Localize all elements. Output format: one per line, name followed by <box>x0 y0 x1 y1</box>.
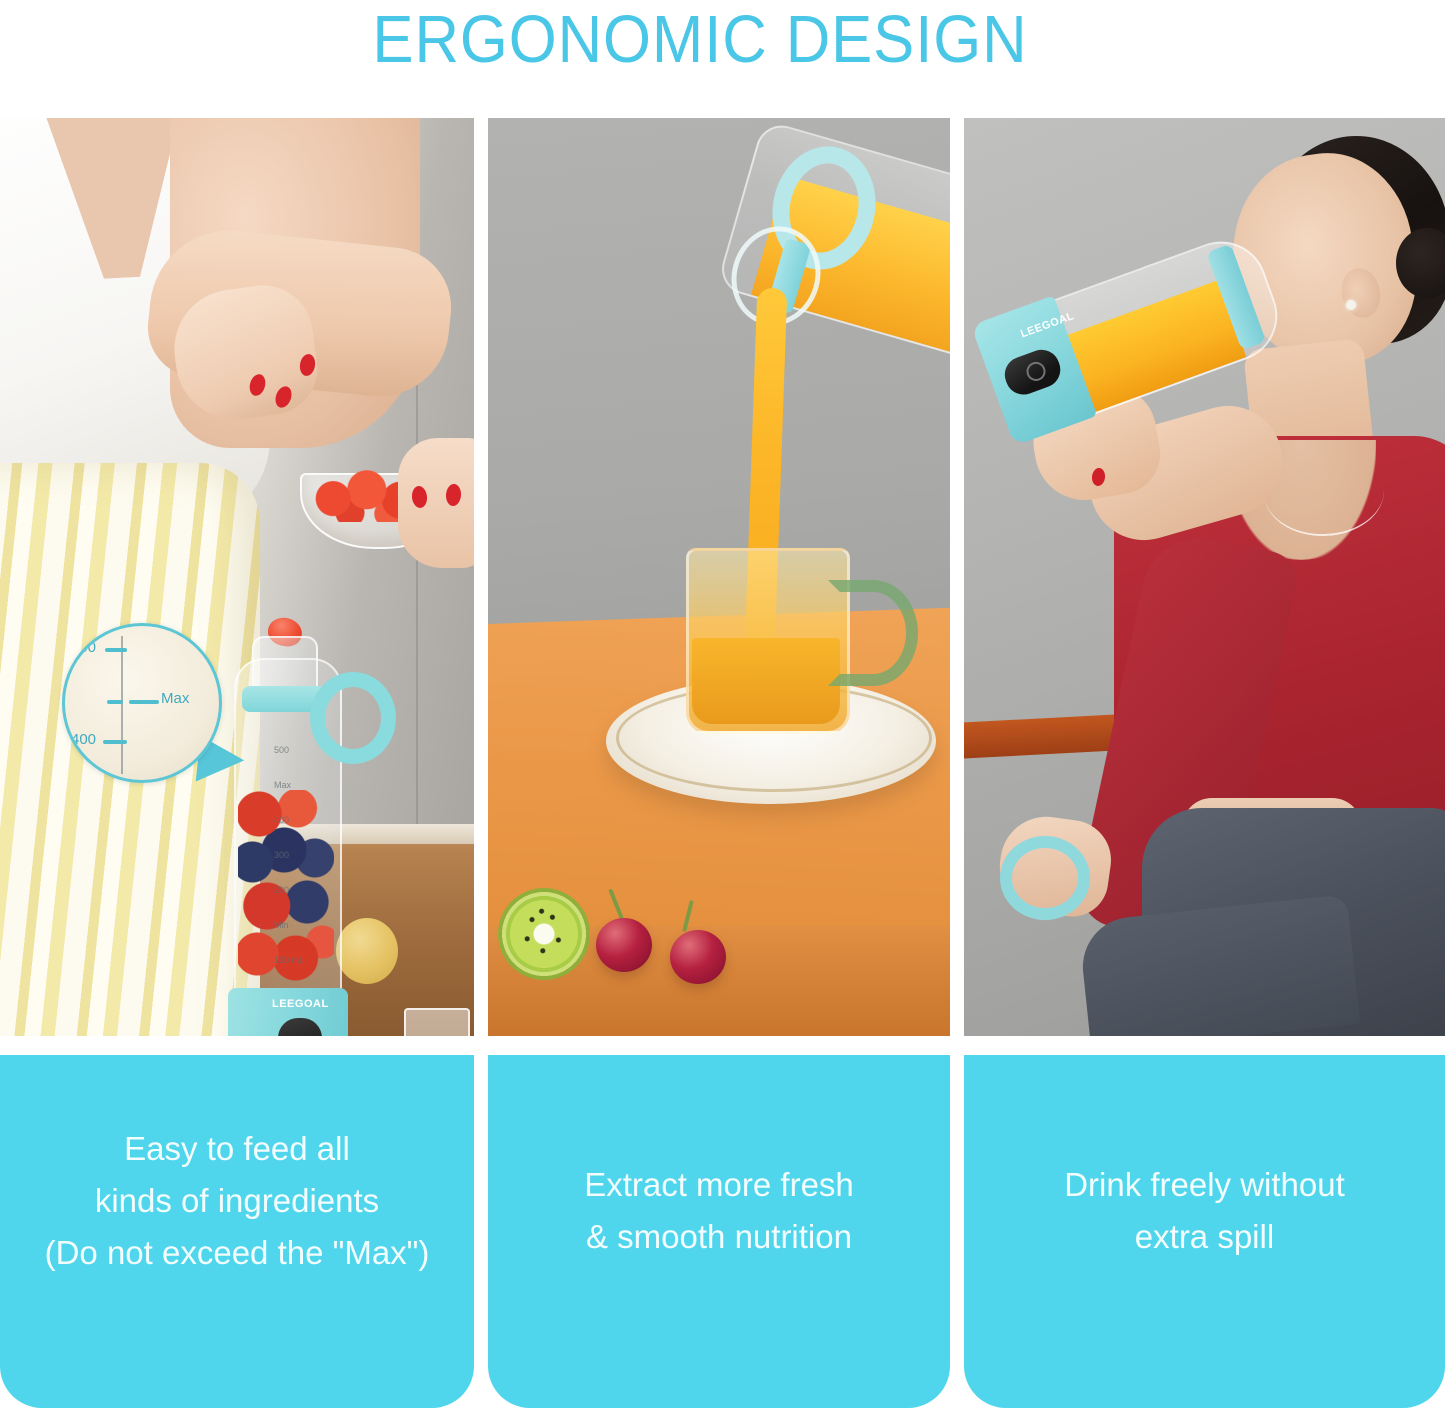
caption-extract-text: Extract more fresh & smooth nutrition <box>584 1159 854 1263</box>
juice-in-mug <box>692 638 840 724</box>
magnified-label-400: 400 <box>71 731 96 748</box>
magnified-tick-400 <box>103 740 127 744</box>
page-title: ERGONOMIC DESIGN <box>56 0 1344 95</box>
caption-drink: Drink freely without extra spill <box>964 1055 1445 1408</box>
right-hand <box>398 438 474 568</box>
earring <box>1346 300 1356 310</box>
photo-panel-pouring <box>488 118 950 1036</box>
caption-extract: Extract more fresh & smooth nutrition <box>488 1055 950 1408</box>
scale-mark-max: Max <box>274 781 304 790</box>
scale-mark-200: 200 <box>274 886 304 895</box>
scale-mark-400: 400 <box>274 816 304 825</box>
carry-loop-handle <box>310 672 396 764</box>
cherry <box>596 918 652 972</box>
magnified-scale-line <box>121 636 123 774</box>
kiwi-half <box>498 888 590 980</box>
magnified-tick-500 <box>105 648 127 652</box>
magnified-tick-max-left <box>107 700 123 704</box>
magnifier-callout: 500 Max 400 <box>62 623 222 783</box>
scale-mark-min: Min <box>274 921 304 930</box>
scale-mark-300: 300 <box>274 851 304 860</box>
small-glass-cup <box>404 1008 470 1036</box>
mug-handle <box>828 580 918 686</box>
caption-feed-text: Easy to feed all kinds of ingredients (D… <box>45 1123 430 1279</box>
caption-drink-text: Drink freely without extra spill <box>1064 1159 1345 1263</box>
caption-feed: Easy to feed all kinds of ingredients (D… <box>0 1055 474 1408</box>
bottle-measurement-scale: 500 Max 400 300 200 Min 100 mL <box>274 746 304 991</box>
scale-mark-500: 500 <box>274 746 304 755</box>
product-photo-strip: 500 Max 400 300 200 Min 100 mL LEEGOAL <box>0 118 1445 1036</box>
photo-panel-drinking: LEEGOAL <box>964 118 1445 1036</box>
caption-row: Easy to feed all kinds of ingredients (D… <box>0 1055 1445 1408</box>
magnified-label-max: Max <box>161 690 189 707</box>
bottle-lid-ring <box>1000 836 1090 920</box>
blender-bottle: 500 Max 400 300 200 Min 100 mL LEEGOAL <box>228 658 348 1036</box>
scale-mark-100: 100 mL <box>274 956 304 965</box>
cherry <box>670 930 726 984</box>
magnified-tick-max-right <box>129 700 159 704</box>
brand-logo-text: LEEGOAL <box>272 998 329 1010</box>
magnified-label-500: 500 <box>71 639 96 656</box>
photo-panel-feeding: 500 Max 400 300 200 Min 100 mL LEEGOAL <box>0 118 474 1036</box>
